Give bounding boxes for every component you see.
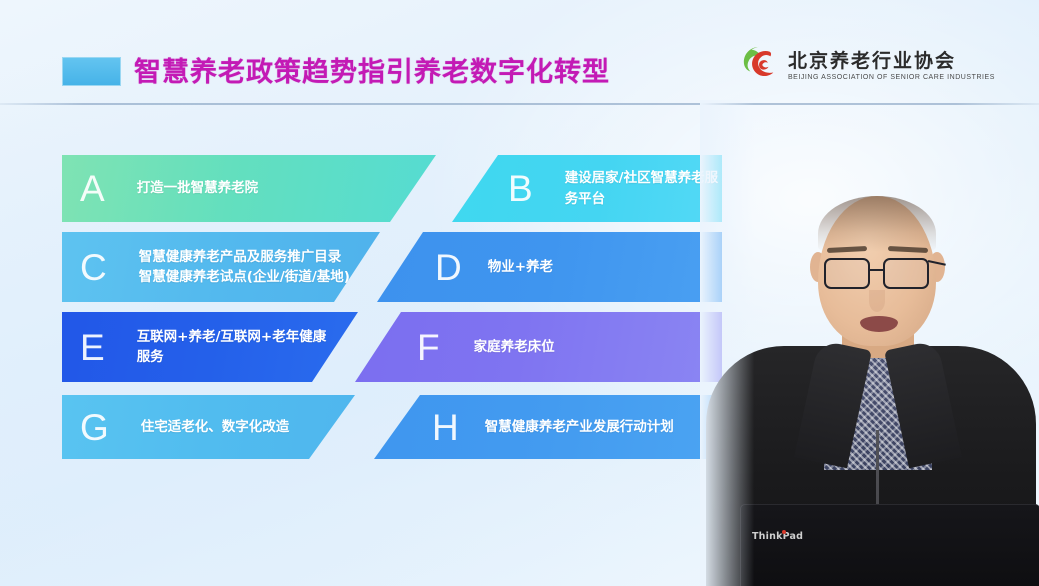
policy-label-f: 家庭养老床位: [474, 337, 555, 357]
policy-item-d[interactable]: D 物业+养老: [377, 232, 722, 302]
policy-label-c: 智慧健康养老产品及服务推广目录 智慧健康养老试点(企业/街道/基地): [139, 247, 350, 288]
policy-block-b: B 建设居家/社区智慧养老服务平台: [452, 155, 722, 222]
policy-block-c: C 智慧健康养老产品及服务推广目录 智慧健康养老试点(企业/街道/基地): [62, 232, 380, 302]
policy-letter-g: G: [80, 409, 109, 446]
policy-label-h: 智慧健康养老产业发展行动计划: [485, 417, 674, 437]
policy-letter-c: C: [80, 249, 107, 286]
policy-block-e: E 互联网+养老/互联网+老年健康 服务: [62, 312, 358, 382]
policy-label-d: 物业+养老: [488, 257, 553, 277]
policy-letter-b: B: [508, 170, 533, 207]
policy-item-a[interactable]: A 打造一批智慧养老院: [62, 155, 436, 222]
policy-label-b: 建设居家/社区智慧养老服务平台: [565, 168, 722, 209]
policy-item-c[interactable]: C 智慧健康养老产品及服务推广目录 智慧健康养老试点(企业/街道/基地): [62, 232, 380, 302]
policy-label-e: 互联网+养老/互联网+老年健康 服务: [137, 327, 327, 368]
policy-letter-h: H: [432, 409, 459, 446]
policy-block-a: A 打造一批智慧养老院: [62, 155, 436, 222]
policy-block-h: H 智慧健康养老产业发展行动计划: [374, 395, 722, 459]
policy-label-g: 住宅适老化、数字化改造: [141, 417, 290, 437]
policy-item-e[interactable]: E 互联网+养老/互联网+老年健康 服务: [62, 312, 358, 382]
policy-letter-e: E: [80, 329, 105, 366]
policy-block-g: G 住宅适老化、数字化改造: [62, 395, 355, 459]
policy-letter-a: A: [80, 170, 105, 207]
policy-block-d: D 物业+养老: [377, 232, 722, 302]
policy-label-a: 打造一批智慧养老院: [137, 178, 259, 198]
policy-letter-d: D: [435, 249, 462, 286]
policy-letter-f: F: [417, 329, 440, 366]
policy-block-f: F 家庭养老床位: [355, 312, 722, 382]
policy-item-g[interactable]: G 住宅适老化、数字化改造: [62, 395, 355, 459]
policy-chevron-diagram: A 打造一批智慧养老院 B 建设居家/社区智慧养老服务平台 C 智慧健康养老产品…: [0, 0, 1039, 586]
policy-item-b[interactable]: B 建设居家/社区智慧养老服务平台: [452, 155, 722, 222]
policy-item-f[interactable]: F 家庭养老床位: [355, 312, 722, 382]
presentation-slide: 智慧养老政策趋势指引养老数字化转型 北京养老行业协会 BEIJING ASSOC…: [0, 0, 1039, 586]
policy-item-h[interactable]: H 智慧健康养老产业发展行动计划: [374, 395, 722, 459]
